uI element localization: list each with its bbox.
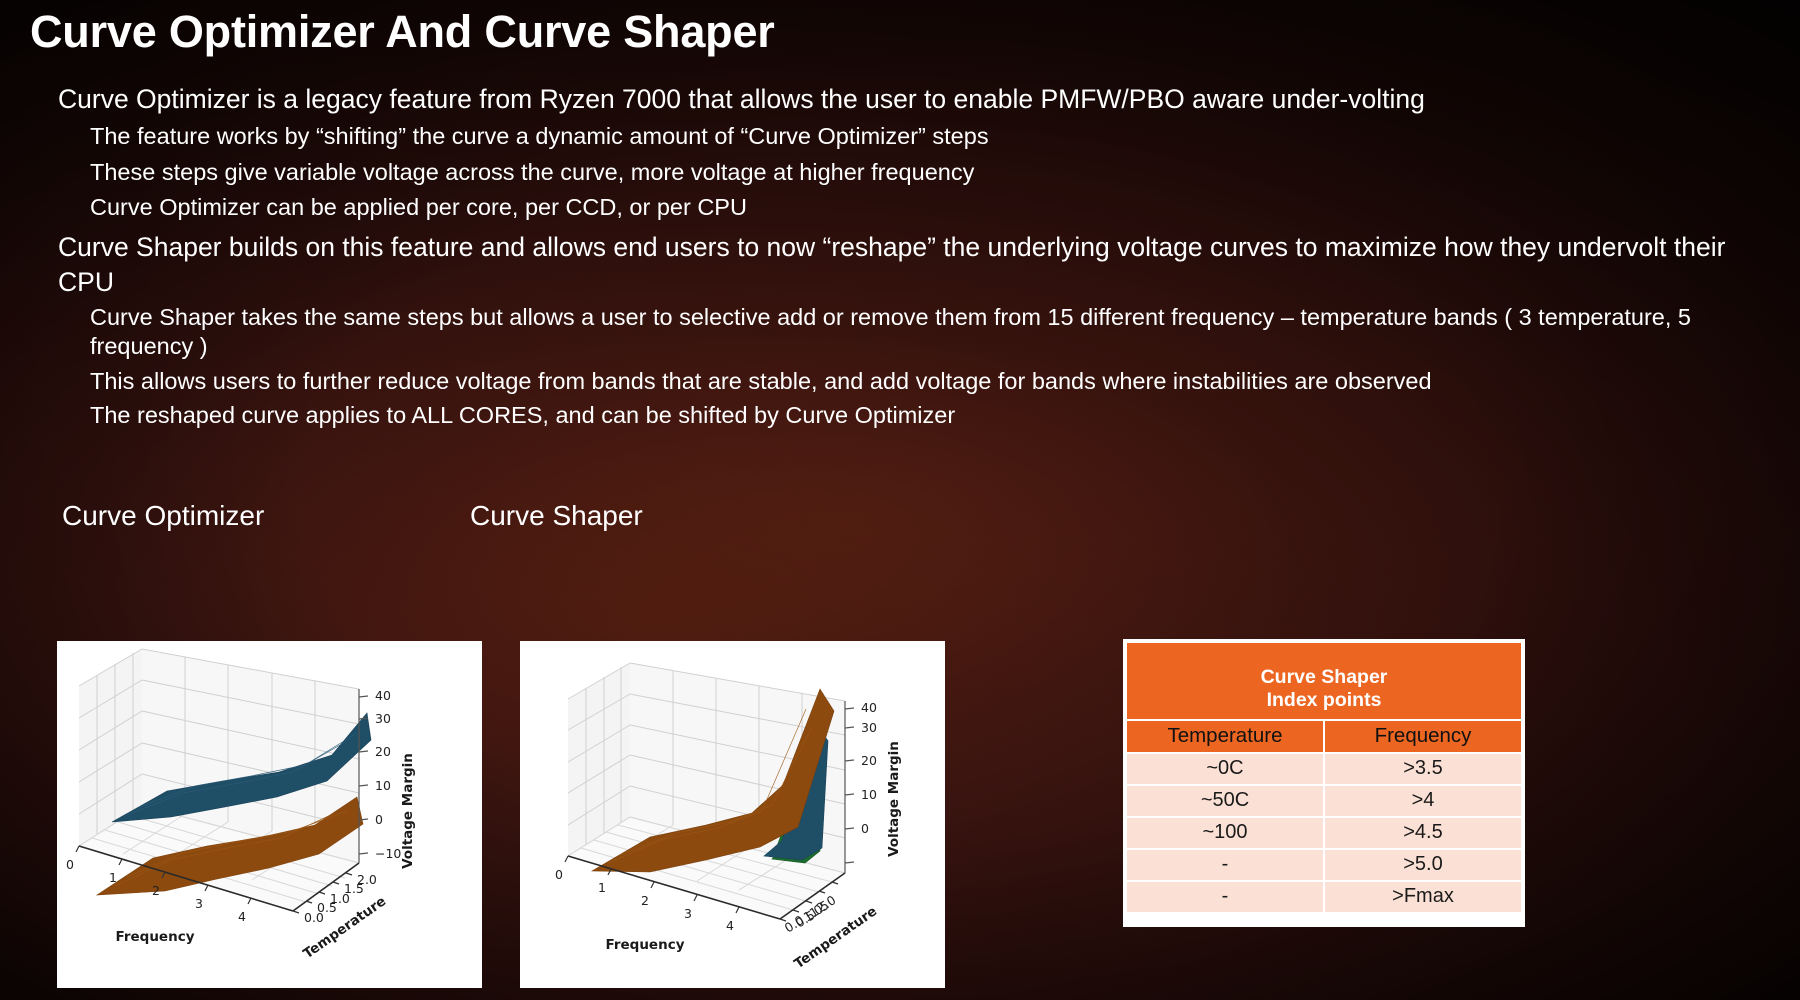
bullet-level1-1: Curve Optimizer is a legacy feature from… (58, 84, 1425, 114)
svg-text:2: 2 (152, 883, 160, 898)
svg-text:30: 30 (861, 720, 877, 735)
svg-text:Frequency: Frequency (115, 929, 194, 945)
cell-frequency: >4.5 (1325, 818, 1521, 848)
section-heading-curve-shaper: Curve Shaper (470, 500, 643, 532)
svg-text:0: 0 (375, 812, 383, 827)
cell-frequency: >3.5 (1325, 754, 1521, 784)
chart-curve-optimizer: −10 0 10 20 30 40 0 1 2 3 4 0.0 0.5 1.0 (57, 641, 482, 988)
table-title: Curve Shaper Index points (1127, 643, 1521, 719)
table-row: ~100 >4.5 (1127, 818, 1521, 848)
svg-text:40: 40 (375, 688, 391, 703)
svg-text:10: 10 (861, 787, 877, 802)
cell-temperature: - (1127, 882, 1323, 912)
svg-text:Frequency: Frequency (605, 937, 684, 953)
cell-frequency: >Fmax (1325, 882, 1521, 912)
svg-text:2: 2 (641, 893, 649, 908)
cell-temperature: ~100 (1127, 818, 1323, 848)
svg-text:20: 20 (861, 753, 877, 768)
bullet-level2-4: Curve Shaper takes the same steps but al… (90, 303, 1780, 361)
svg-text:0: 0 (555, 867, 563, 882)
cell-frequency: >4 (1325, 786, 1521, 816)
bullet-level2-6: The reshaped curve applies to ALL CORES,… (90, 401, 955, 430)
page-title: Curve Optimizer And Curve Shaper (30, 6, 775, 58)
table-row: - >5.0 (1127, 850, 1521, 880)
svg-text:4: 4 (726, 918, 734, 933)
bullet-level2-2: These steps give variable voltage across… (90, 158, 974, 187)
bullet-level2-3: Curve Optimizer can be applied per core,… (90, 193, 747, 222)
section-heading-curve-optimizer: Curve Optimizer (62, 500, 264, 532)
svg-text:−10: −10 (375, 846, 401, 861)
svg-text:1: 1 (109, 870, 117, 885)
svg-text:Voltage Margin: Voltage Margin (400, 753, 416, 869)
bullet-level1-2: Curve Shaper builds on this feature and … (58, 230, 1758, 300)
cell-temperature: ~0C (1127, 754, 1323, 784)
svg-text:1: 1 (598, 880, 606, 895)
cell-frequency: >5.0 (1325, 850, 1521, 880)
bullet-level2-5: This allows users to further reduce volt… (90, 367, 1432, 396)
table-header-row: Temperature Frequency (1127, 721, 1521, 752)
surface-plot-1: −10 0 10 20 30 40 0 1 2 3 4 0.0 0.5 1.0 (57, 641, 482, 988)
svg-text:3: 3 (684, 906, 692, 921)
cell-temperature: ~50C (1127, 786, 1323, 816)
table-row: ~50C >4 (1127, 786, 1521, 816)
column-header-frequency: Frequency (1325, 721, 1521, 752)
svg-text:0: 0 (861, 821, 869, 836)
svg-text:3: 3 (195, 896, 203, 911)
svg-text:4: 4 (238, 909, 246, 924)
svg-text:Voltage Margin: Voltage Margin (886, 741, 902, 857)
column-header-temperature: Temperature (1127, 721, 1323, 752)
table-row: ~0C >3.5 (1127, 754, 1521, 784)
svg-text:2.0: 2.0 (357, 872, 377, 887)
cell-temperature: - (1127, 850, 1323, 880)
table-title-line2: Index points (1267, 689, 1382, 712)
curve-shaper-index-table: Curve Shaper Index points Temperature Fr… (1123, 639, 1525, 927)
chart-curve-shaper: 0 10 20 30 40 0 1 2 3 4 0.0 0.5 1.0 1.5 … (520, 641, 945, 988)
surface-plot-2: 0 10 20 30 40 0 1 2 3 4 0.0 0.5 1.0 1.5 … (520, 641, 945, 988)
svg-text:0: 0 (66, 857, 74, 872)
svg-text:20: 20 (375, 744, 391, 759)
svg-text:10: 10 (375, 778, 391, 793)
table-row: - >Fmax (1127, 882, 1521, 912)
bullet-level2-1: The feature works by “shifting” the curv… (90, 122, 989, 151)
svg-text:30: 30 (375, 711, 391, 726)
svg-text:40: 40 (861, 700, 877, 715)
table-title-line1: Curve Shaper (1261, 666, 1388, 689)
